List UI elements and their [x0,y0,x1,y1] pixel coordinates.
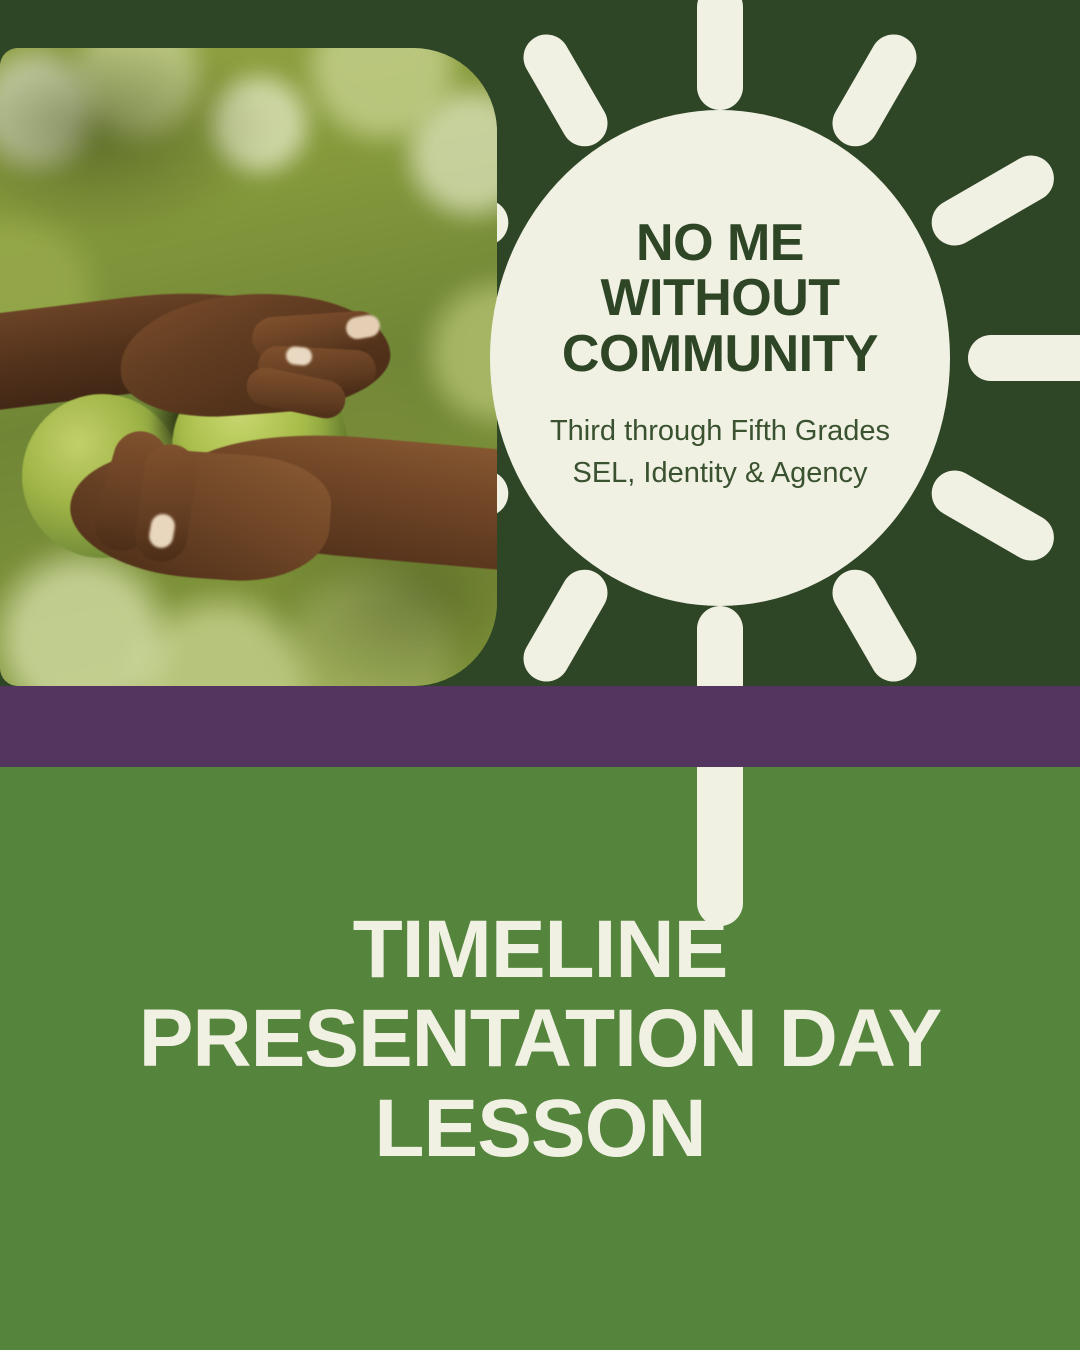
badge-subtitle-line-2: SEL, Identity & Agency [550,452,890,494]
badge-subtitle-line-1: Third through Fifth Grades [550,410,890,452]
badge-subtitle: Third through Fifth Grades SEL, Identity… [550,410,890,494]
sunburst-badge: NO ME WITHOUT COMMUNITY Third through Fi… [490,110,950,606]
hands-and-fruit-group [0,48,497,686]
hero-photo [0,48,497,686]
headline-text: TIMELINE PRESENTATION DAY LESSON [60,905,1020,1173]
badge-title: NO ME WITHOUT COMMUNITY [514,216,926,381]
poster-canvas: NO ME WITHOUT COMMUNITY Third through Fi… [0,0,1080,1350]
purple-divider-band [0,686,1080,767]
upper-fingernail-2 [285,346,313,367]
